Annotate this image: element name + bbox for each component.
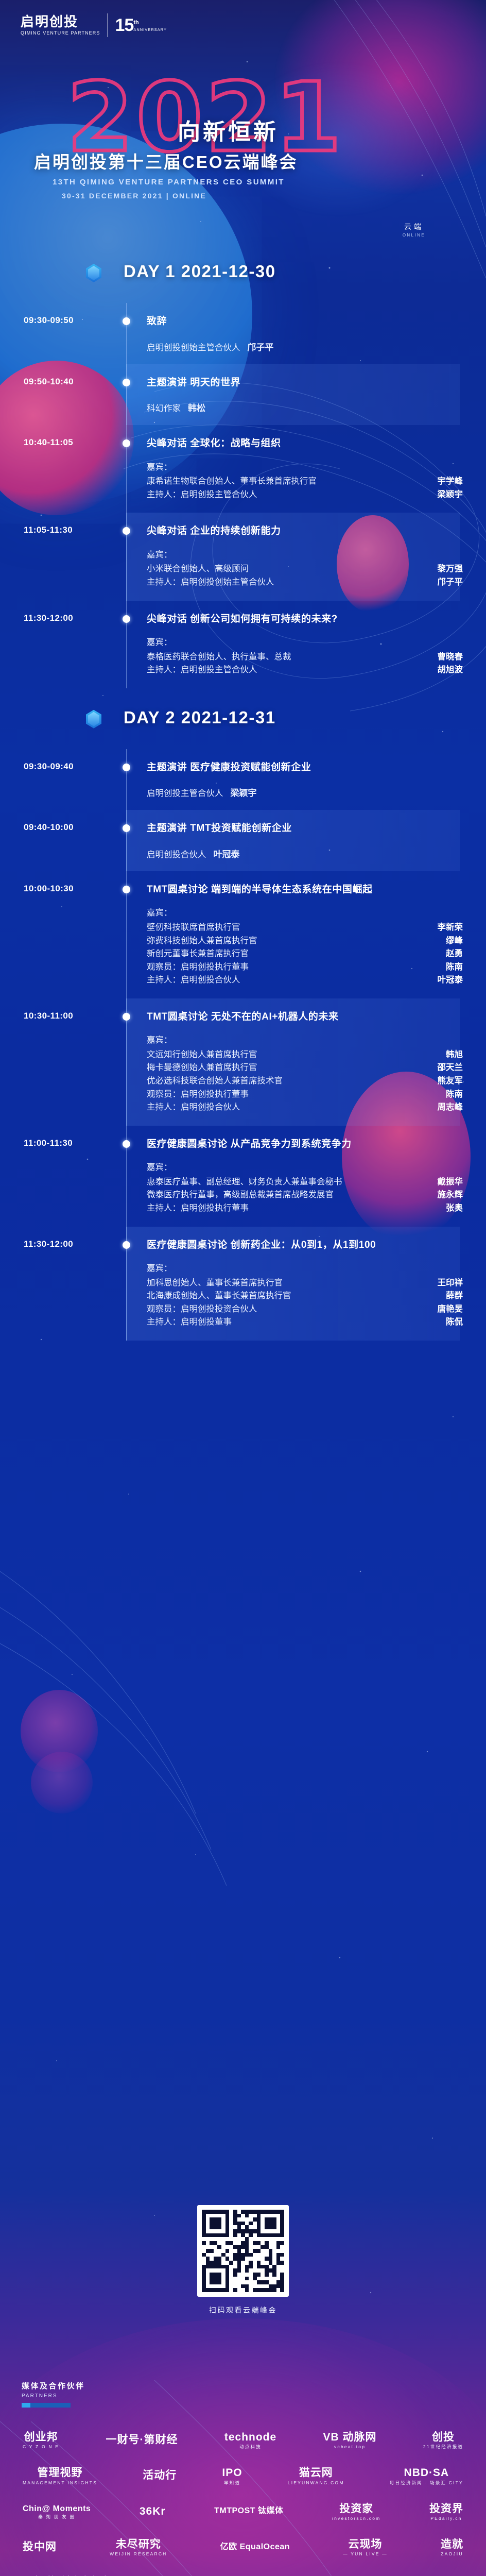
guest-role: 观察员：启明创投执行董事 <box>147 961 439 974</box>
guest-row: 观察员：启明创投执行董事陈南 <box>147 961 463 974</box>
timeline-dot-icon <box>123 527 130 535</box>
guest-role: 弥费科技创始人兼首席执行官 <box>147 935 439 948</box>
partner-logo-name: 未尽研究 <box>110 2538 167 2550</box>
partner-logo[interactable]: Chin@ Moments秦 朔 朋 友 圈 <box>23 2504 91 2520</box>
agenda-item[interactable]: 10:40-11:05尖峰对话 全球化：战略与组织嘉宾：康希诺生物联合创始人、董… <box>0 425 486 513</box>
guest-role: 文远知行创始人兼首席执行官 <box>147 1048 439 1062</box>
day-items-2: 09:30-09:40主题演讲 医疗健康投资赋能创新企业启明创投主管合伙人梁颖宇… <box>0 749 486 1341</box>
agenda-item[interactable]: 11:30-12:00尖峰对话 创新公司如何拥有可持续的未来?嘉宾：泰格医药联合… <box>0 601 486 688</box>
qr-caption: 扫码观看云端峰会 <box>0 2305 486 2315</box>
speaker-line: 启明创投主管合伙人梁颖宇 <box>147 786 463 799</box>
partner-logo[interactable]: 管理视野MANAGEMENT INSIGHTS <box>23 2467 97 2485</box>
guest-role: 壁仞科技联席首席执行官 <box>147 921 430 935</box>
speaker-name: 叶冠泰 <box>214 850 240 859</box>
agenda-title: 医疗健康圆桌讨论 从产品竞争力到系统竞争力 <box>147 1137 463 1151</box>
day-label: DAY 2 2021-12-31 <box>124 708 276 727</box>
agenda-time: 11:30-12:00 <box>24 1239 73 1249</box>
guest-row: 主持人：启明创投合伙人叶冠泰 <box>147 974 463 987</box>
partner-logo-sub: 秦 朔 朋 友 圈 <box>23 2515 91 2519</box>
online-badge-cn: 云端 <box>403 222 425 232</box>
timeline-dot-icon <box>123 379 130 386</box>
partner-logo[interactable]: 创业邦C Y Z O N E <box>23 2431 59 2449</box>
partner-logo-name: TMTPOST 钛媒体 <box>214 2506 283 2516</box>
partner-logo[interactable]: 造就ZAOJIU <box>441 2538 463 2556</box>
agenda-title: 主题演讲 明天的世界 <box>147 376 463 390</box>
partner-logo[interactable]: 猫云网LIEYUNWANG.COM <box>288 2467 344 2485</box>
timeline-dot-icon <box>123 824 130 832</box>
partner-logo-sub: 每日经济新闻 · 场景汇 CITY <box>390 2481 463 2485</box>
partner-logo-name: 创投 <box>423 2431 463 2443</box>
guest-role: 新创元董事长兼首席执行官 <box>147 947 439 961</box>
agenda-time: 11:00-11:30 <box>24 1138 73 1148</box>
guest-row: 主持人：启明创投创始主管合伙人邝子平 <box>147 576 463 589</box>
guest-row: 主持人：启明创投执行董事张奥 <box>147 1202 463 1215</box>
guest-name: 缪峰 <box>446 935 463 948</box>
partner-logo-row: 创业邦C Y Z O N E一财号·第财经technode动点科技VB 动脉网v… <box>23 2431 463 2449</box>
agenda-item[interactable]: 09:40-10:00主题演讲 TMT投资赋能创新企业启明创投合伙人叶冠泰 <box>0 810 486 871</box>
guest-role: 北海康成创始人、董事长兼首席执行官 <box>147 1290 439 1303</box>
agenda-item[interactable]: 10:00-10:30TMT圆桌讨论 端到端的半导体生态系统在中国崛起嘉宾：壁仞… <box>0 871 486 998</box>
agenda-time: 09:50-10:40 <box>24 377 74 387</box>
agenda-item[interactable]: 11:00-11:30医疗健康圆桌讨论 从产品竞争力到系统竞争力嘉宾：惠泰医疗董… <box>0 1126 486 1227</box>
partner-logo[interactable]: VB 动脉网vcbeat.top <box>323 2431 377 2449</box>
agenda-title: TMT圆桌讨论 无处不在的AI+机器人的未来 <box>147 1010 463 1024</box>
partner-logo[interactable]: technode动点科技 <box>224 2431 276 2449</box>
agenda-time: 10:00-10:30 <box>24 884 74 894</box>
partner-logo[interactable]: 投资界PEdaily.cn <box>429 2503 463 2521</box>
partners-accent-bar <box>22 2403 71 2408</box>
guest-label: 嘉宾： <box>147 1161 463 1175</box>
timeline-dot-icon <box>123 439 130 447</box>
agenda-title: 医疗健康圆桌讨论 创新药企业：从0到1，从1到100 <box>147 1238 463 1252</box>
speaker-line: 启明创投合伙人叶冠泰 <box>147 847 463 860</box>
partner-logo[interactable]: 未尽研究WEIJIN RESEARCH <box>110 2538 167 2556</box>
speaker-role: 启明创投主管合伙人 <box>147 789 223 798</box>
speaker-role: 启明创投创始主管合伙人 <box>147 343 240 352</box>
speaker-name: 韩松 <box>188 403 205 413</box>
guest-row: 小米联合创始人、高级顾问黎万强 <box>147 563 463 576</box>
guest-name: 李新荣 <box>438 921 463 935</box>
agenda-time: 10:30-11:00 <box>24 1011 73 1021</box>
guest-role: 惠泰医疗董事、副总经理、财务负责人兼董事会秘书 <box>147 1176 430 1189</box>
guest-block: 嘉宾：小米联合创始人、高级顾问黎万强主持人：启明创投创始主管合伙人邝子平 <box>147 549 463 589</box>
partner-logo-sub: 动点科技 <box>224 2445 276 2449</box>
brand-logo-en: QIMING VENTURE PARTNERS <box>21 30 100 36</box>
guest-name: 宇学峰 <box>438 475 463 488</box>
guest-block: 嘉宾：文远知行创始人兼首席执行官韩旭梅卡曼德创始人兼首席执行官邵天兰优必选科技联… <box>147 1034 463 1114</box>
guest-label: 嘉宾： <box>147 1262 463 1276</box>
partner-logo[interactable]: 活动行 <box>143 2469 177 2483</box>
timeline-dot-icon <box>123 886 130 893</box>
guest-role: 主持人：启明创投主管合伙人 <box>147 664 430 677</box>
speaker-line: 启明创投创始主管合伙人邝子平 <box>147 340 463 353</box>
partner-logo-name: 亿欧 EqualOcean <box>220 2543 290 2552</box>
guest-name: 梁颖宇 <box>438 488 463 502</box>
agenda-item[interactable]: 11:30-12:00医疗健康圆桌讨论 创新药企业：从0到1，从1到100嘉宾：… <box>0 1227 486 1341</box>
guest-row: 优必选科技联合创始人兼首席技术官熊友军 <box>147 1075 463 1088</box>
guest-row: 康希诺生物联合创始人、董事长兼首席执行官宇学峰 <box>147 475 463 488</box>
speaker-name: 梁颖宇 <box>231 788 257 798</box>
anniversary-badge: 15 th ANNIVERSARY <box>115 18 166 33</box>
guest-row: 泰格医药联合创始人、执行董事、总裁曹晓春 <box>147 651 463 664</box>
day-header-2: DAY 2 2021-12-31 <box>0 688 486 749</box>
partner-logo-sub: 21世纪经济报道 <box>423 2445 463 2449</box>
partner-logo[interactable]: 36Kr <box>140 2505 166 2519</box>
agenda-item[interactable]: 10:30-11:00TMT圆桌讨论 无处不在的AI+机器人的未来嘉宾：文远知行… <box>0 998 486 1126</box>
agenda-item[interactable]: 09:30-09:40主题演讲 医疗健康投资赋能创新企业启明创投主管合伙人梁颖宇 <box>0 749 486 810</box>
guest-name: 王印祥 <box>438 1277 463 1290</box>
poster-root: 启明创投 QIMING VENTURE PARTNERS 15 th ANNIV… <box>0 0 486 2576</box>
guest-row: 主持人：启明创投董事陈侃 <box>147 1316 463 1329</box>
partner-logo-name: 云现场 <box>343 2538 388 2550</box>
guest-role: 优必选科技联合创始人兼首席技术官 <box>147 1075 430 1088</box>
logo-divider <box>107 13 108 37</box>
timeline-dot-icon <box>123 1013 130 1021</box>
partner-logo[interactable]: 投中网 <box>23 2541 57 2554</box>
guest-block: 嘉宾：惠泰医疗董事、副总经理、财务负责人兼董事会秘书戴振华微泰医疗执行董事，高级… <box>147 1161 463 1215</box>
guest-row: 主持人：启明创投主管合伙人梁颖宇 <box>147 488 463 502</box>
poster-title-en: 13TH QIMING VENTURE PARTNERS CEO SUMMIT <box>53 178 285 187</box>
guest-role: 观察员：启明创投投资合伙人 <box>147 1303 430 1316</box>
guest-block: 嘉宾：加科思创始人、董事长兼首席执行官王印祥北海康成创始人、董事长兼首席执行官薛… <box>147 1262 463 1329</box>
poster-title-main: 向新恒新 <box>178 113 279 146</box>
partner-logo-sub: — YUN LIVE — <box>343 2552 388 2556</box>
partner-logo-name: 活动行 <box>143 2469 177 2481</box>
guest-row: 主持人：启明创投主管合伙人胡旭波 <box>147 664 463 677</box>
agenda-title: 尖峰对话 全球化：战略与组织 <box>147 436 463 451</box>
guest-label: 嘉宾： <box>147 461 463 474</box>
partner-logo-sub: LIEYUNWANG.COM <box>288 2481 344 2485</box>
guest-label: 嘉宾： <box>147 636 463 650</box>
partner-logo-sub: 早知道 <box>222 2481 242 2485</box>
partner-logo[interactable]: NBD·SA每日经济新闻 · 场景汇 CITY <box>390 2467 463 2485</box>
speaker-name: 邝子平 <box>248 343 274 352</box>
guest-name: 熊友军 <box>438 1075 463 1088</box>
agenda-title: 致辞 <box>147 314 463 329</box>
day-header-1: DAY 1 2021-12-30 <box>0 242 486 303</box>
partner-logo[interactable]: 一财号·第财经 <box>106 2434 178 2447</box>
qr-section: 扫码观看云端峰会 <box>0 2205 486 2315</box>
guest-role: 主持人：启明创投主管合伙人 <box>147 488 430 502</box>
partner-logo-name: 管理视野 <box>23 2467 97 2479</box>
partners-title-en: PARTNERS <box>22 2393 486 2399</box>
agenda-list: DAY 1 2021-12-3009:30-09:50致辞启明创投创始主管合伙人… <box>0 242 486 1341</box>
partner-logo-sub: PEdaily.cn <box>429 2516 463 2521</box>
guest-label: 嘉宾： <box>147 907 463 920</box>
timeline-dot-icon <box>123 1140 130 1148</box>
guest-block: 嘉宾：康希诺生物联合创始人、董事长兼首席执行官宇学峰主持人：启明创投主管合伙人梁… <box>147 461 463 502</box>
partner-logo-name: 投中网 <box>23 2541 57 2553</box>
partner-logo-name: IPO <box>222 2467 242 2479</box>
partner-logo-name: 一财号·第财经 <box>106 2434 178 2446</box>
guest-name: 黎万强 <box>438 563 463 576</box>
partner-logo[interactable]: 云现场— YUN LIVE — <box>343 2538 388 2556</box>
guest-name: 邝子平 <box>438 576 463 589</box>
agenda-time: 09:40-10:00 <box>24 822 74 833</box>
agenda-title: 主题演讲 医疗健康投资赋能创新企业 <box>147 760 463 775</box>
guest-row: 北海康成创始人、董事长兼首席执行官薛群 <box>147 1290 463 1303</box>
anniversary-th: th <box>133 20 138 26</box>
guest-name: 邵天兰 <box>438 1061 463 1075</box>
partner-logo-sub: C Y Z O N E <box>23 2445 59 2449</box>
partners-section: 媒体及合作伙伴 PARTNERS 创业邦C Y Z O N E一财号·第财经te… <box>0 2380 486 2576</box>
guest-label: 嘉宾： <box>147 549 463 562</box>
partner-logo-sub: investorscn.com <box>332 2516 380 2521</box>
partner-logo-name: 猫云网 <box>288 2467 344 2479</box>
guest-name: 周志峰 <box>438 1101 463 1114</box>
guest-row: 壁仞科技联席首席执行官李新荣 <box>147 921 463 935</box>
day-hex-icon <box>86 264 101 282</box>
partner-logo-row: 投中网未尽研究WEIJIN RESEARCH亿欧 EqualOcean云现场— … <box>23 2538 463 2556</box>
day-label: DAY 1 2021-12-30 <box>124 262 276 281</box>
agenda-time: 11:30-12:00 <box>24 613 73 623</box>
guest-role: 主持人：启明创投执行董事 <box>147 1202 439 1215</box>
guest-row: 观察员：启明创投执行董事陈南 <box>147 1088 463 1101</box>
poster-title-sub: 启明创投第十三届CEO云端峰会 <box>34 148 298 173</box>
partner-logo[interactable]: 创投21世纪经济报道 <box>423 2431 463 2449</box>
agenda-title: 尖峰对话 企业的持续创新能力 <box>147 524 463 538</box>
partner-logo-name: 造就 <box>441 2538 463 2550</box>
partner-logo[interactable]: 投资家investorscn.com <box>332 2503 380 2521</box>
partner-logo-sub: ZAOJIU <box>441 2552 463 2556</box>
timeline-dot-icon <box>123 764 130 771</box>
guest-role: 观察员：启明创投执行董事 <box>147 1088 439 1101</box>
decor-pink-dot-4 <box>31 1752 93 1814</box>
guest-name: 陈南 <box>446 1088 463 1101</box>
guest-name: 施永辉 <box>438 1189 463 1202</box>
speaker-line: 科幻作家韩松 <box>147 401 463 414</box>
guest-role: 泰格医药联合创始人、执行董事、总裁 <box>147 651 430 664</box>
partner-logo-name: 投资界 <box>429 2503 463 2515</box>
guest-row: 梅卡曼德创始人兼首席执行官邵天兰 <box>147 1061 463 1075</box>
poster-title-date: 30-31 DECEMBER 2021 | ONLINE <box>62 192 206 200</box>
online-badge-en: ONLINE <box>403 233 425 238</box>
online-badge: 云端 ONLINE <box>403 222 425 238</box>
guest-name: 韩旭 <box>446 1048 463 1062</box>
guest-row: 新创元董事长兼首席执行官赵勇 <box>147 947 463 961</box>
guest-row: 加科思创始人、董事长兼首席执行官王印祥 <box>147 1277 463 1290</box>
partner-logo-name: 36Kr <box>140 2505 166 2517</box>
anniversary-number: 15 <box>115 18 133 33</box>
guest-row: 主持人：启明创投合伙人周志峰 <box>147 1101 463 1114</box>
guest-role: 加科思创始人、董事长兼首席执行官 <box>147 1277 430 1290</box>
partner-logo-name: technode <box>224 2431 276 2443</box>
guest-role: 主持人：启明创投合伙人 <box>147 974 430 987</box>
guest-name: 叶冠泰 <box>438 974 463 987</box>
agenda-item[interactable]: 11:05-11:30尖峰对话 企业的持续创新能力嘉宾：小米联合创始人、高级顾问… <box>0 513 486 600</box>
guest-block: 嘉宾：壁仞科技联席首席执行官李新荣弥费科技创始人兼首席执行官缪峰新创元董事长兼首… <box>147 907 463 987</box>
speaker-role: 科幻作家 <box>147 404 181 413</box>
guest-name: 陈南 <box>446 961 463 974</box>
guest-role: 小米联合创始人、高级顾问 <box>147 563 430 576</box>
brand-logo: 启明创投 QIMING VENTURE PARTNERS 15 th ANNIV… <box>21 13 167 37</box>
guest-role: 主持人：启明创投合伙人 <box>147 1101 430 1114</box>
guest-name: 唐艳旻 <box>438 1303 463 1316</box>
brand-logo-cn: 启明创投 <box>21 15 100 29</box>
guest-row: 观察员：启明创投投资合伙人唐艳旻 <box>147 1303 463 1316</box>
timeline-dot-icon <box>123 615 130 623</box>
guest-role: 微泰医疗执行董事，高级副总裁兼首席战略发展官 <box>147 1189 430 1202</box>
partners-header: 媒体及合作伙伴 PARTNERS <box>22 2380 486 2408</box>
agenda-title: 尖峰对话 创新公司如何拥有可持续的未来? <box>147 612 463 626</box>
partner-logo-sub: vcbeat.top <box>323 2445 377 2449</box>
guest-role: 主持人：启明创投创始主管合伙人 <box>147 576 430 589</box>
partner-logo[interactable]: TMTPOST 钛媒体 <box>214 2506 283 2517</box>
agenda-time: 11:05-11:30 <box>24 525 73 535</box>
partner-logo-name: 创业邦 <box>23 2431 59 2443</box>
partner-logo-sub: MANAGEMENT INSIGHTS <box>23 2481 97 2485</box>
partner-logo-grid: 创业邦C Y Z O N E一财号·第财经technode动点科技VB 动脉网v… <box>0 2431 486 2557</box>
guest-label: 嘉宾： <box>147 1034 463 1047</box>
guest-row: 微泰医疗执行董事，高级副总裁兼首席战略发展官施永辉 <box>147 1189 463 1202</box>
guest-name: 赵勇 <box>446 947 463 961</box>
guest-name: 胡旭波 <box>438 664 463 677</box>
agenda-title: 主题演讲 TMT投资赋能创新企业 <box>147 821 463 836</box>
guest-role: 主持人：启明创投董事 <box>147 1316 439 1329</box>
guest-row: 惠泰医疗董事、副总经理、财务负责人兼董事会秘书戴振华 <box>147 1176 463 1189</box>
guest-row: 文远知行创始人兼首席执行官韩旭 <box>147 1048 463 1062</box>
agenda-item[interactable]: 09:30-09:50致辞启明创投创始主管合伙人邝子平 <box>0 303 486 364</box>
agenda-time: 09:30-09:50 <box>24 315 74 326</box>
partner-logo-name: VB 动脉网 <box>323 2431 377 2443</box>
partner-logo-row: 管理视野MANAGEMENT INSIGHTS活动行IPO早知道猫云网LIEYU… <box>23 2467 463 2485</box>
partner-logo-name: NBD·SA <box>390 2467 463 2479</box>
timeline-dot-icon <box>123 317 130 325</box>
partner-logo-sub: WEIJIN RESEARCH <box>110 2552 167 2556</box>
guest-name: 张奥 <box>446 1202 463 1215</box>
day-hex-icon <box>86 710 101 728</box>
anniversary-word: ANNIVERSARY <box>133 27 167 32</box>
partner-logo-name: Chin@ Moments <box>23 2504 91 2514</box>
agenda-time: 09:30-09:40 <box>24 761 74 772</box>
guest-row: 弥费科技创始人兼首席执行官缪峰 <box>147 935 463 948</box>
speaker-role: 启明创投合伙人 <box>147 850 206 859</box>
guest-role: 梅卡曼德创始人兼首席执行官 <box>147 1061 430 1075</box>
partner-logo[interactable]: 亿欧 EqualOcean <box>220 2543 290 2553</box>
agenda-item[interactable]: 09:50-10:40主题演讲 明天的世界科幻作家韩松 <box>0 364 486 426</box>
timeline-dot-icon <box>123 1241 130 1249</box>
partners-title-cn: 媒体及合作伙伴 <box>22 2380 486 2391</box>
guest-name: 薛群 <box>446 1290 463 1303</box>
agenda-time: 10:40-11:05 <box>24 437 73 448</box>
guest-block: 嘉宾：泰格医药联合创始人、执行董事、总裁曹晓春主持人：启明创投主管合伙人胡旭波 <box>147 636 463 677</box>
partner-logo-name: 投资家 <box>332 2503 380 2515</box>
guest-name: 戴振华 <box>438 1176 463 1189</box>
guest-role: 康希诺生物联合创始人、董事长兼首席执行官 <box>147 475 430 488</box>
qr-code[interactable] <box>197 2205 289 2297</box>
day-items-1: 09:30-09:50致辞启明创投创始主管合伙人邝子平09:50-10:40主题… <box>0 303 486 688</box>
partner-logo-row: Chin@ Moments秦 朔 朋 友 圈36KrTMTPOST 钛媒体投资家… <box>23 2503 463 2521</box>
guest-name: 曹晓春 <box>438 651 463 664</box>
agenda-title: TMT圆桌讨论 端到端的半导体生态系统在中国崛起 <box>147 883 463 897</box>
partner-logo[interactable]: IPO早知道 <box>222 2467 242 2485</box>
guest-name: 陈侃 <box>446 1316 463 1329</box>
